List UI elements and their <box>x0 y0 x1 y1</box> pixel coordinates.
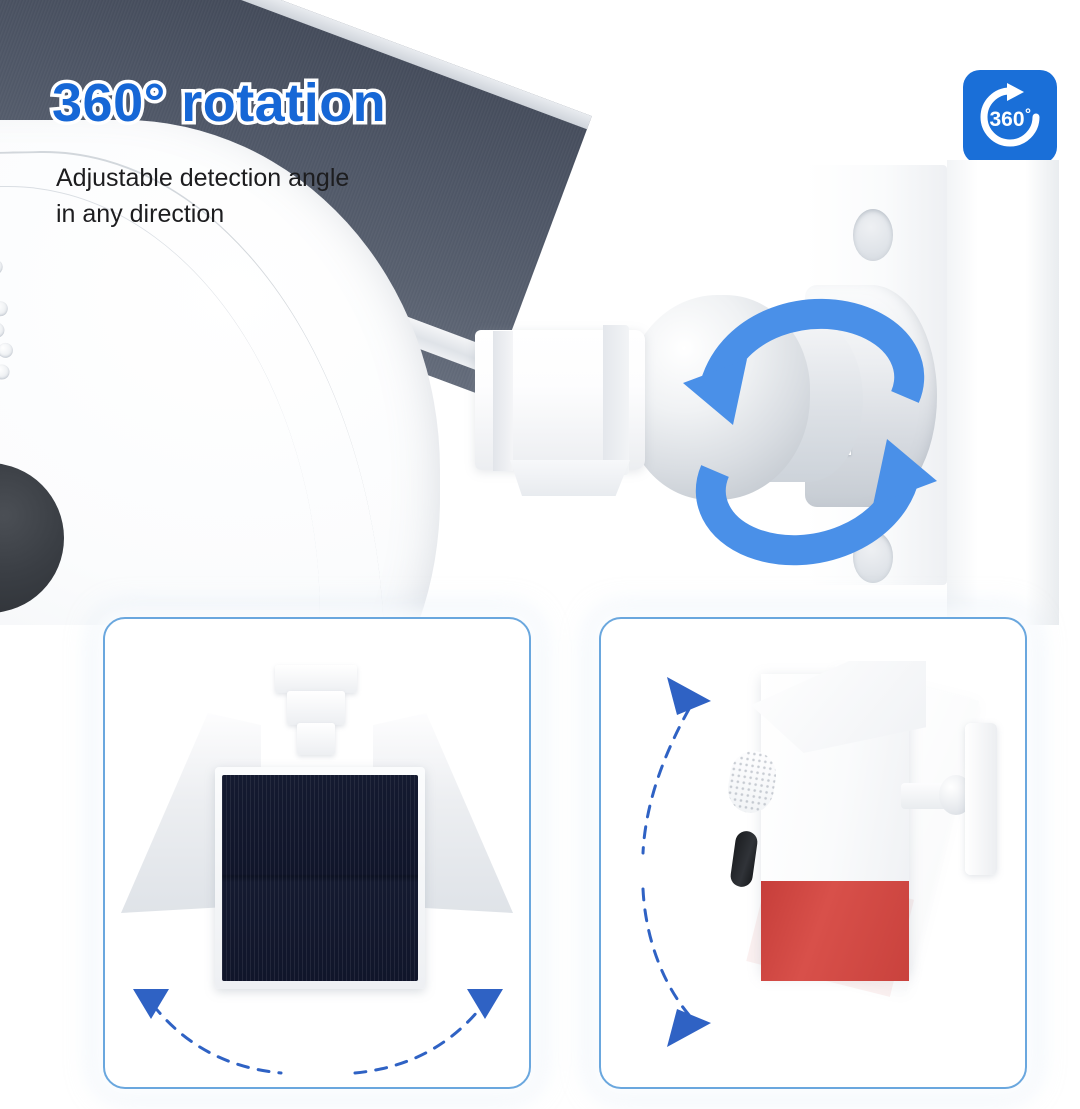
arrow-head-left <box>133 989 169 1019</box>
ceiling-mount-pivot <box>297 723 335 755</box>
product-feature-image: 360° rotation Adjustable detection angle… <box>0 0 1080 1109</box>
horizontal-rotation-inset <box>103 617 531 1089</box>
ball-joint-illustration <box>455 255 1055 615</box>
grille-hole <box>0 259 4 276</box>
badge-360: 360 ° <box>963 70 1057 164</box>
screw-hole-top <box>853 209 893 261</box>
hero-section: 360° rotation Adjustable detection angle… <box>0 0 1080 625</box>
device-wall-plate <box>965 723 997 875</box>
grille-hole <box>0 300 9 317</box>
mounting-arm-rib <box>493 331 513 471</box>
grille-hole <box>0 342 14 359</box>
rotation-arrow-lower <box>605 375 945 625</box>
page-subtitle: Adjustable detection angle in any direct… <box>56 160 349 232</box>
circular-arrow-icon: 360 ° <box>974 81 1046 153</box>
grille-hole <box>0 322 5 339</box>
vertical-tilt-inset <box>599 617 1027 1089</box>
page-title: 360° rotation <box>52 72 386 134</box>
solar-panel-cells <box>222 775 418 981</box>
badge-360-label: 360 <box>989 108 1024 131</box>
device-siren-red <box>761 881 909 981</box>
horizontal-rotation-arrows <box>123 977 513 1077</box>
badge-degree-symbol: ° <box>1025 106 1031 123</box>
ceiling-mount-stem <box>287 691 345 725</box>
arrow-head-right <box>467 989 503 1019</box>
ceiling-mount-base <box>275 665 357 693</box>
wall-surface <box>947 160 1059 625</box>
grille-hole <box>0 364 10 381</box>
solar-panel-frame <box>215 767 425 989</box>
